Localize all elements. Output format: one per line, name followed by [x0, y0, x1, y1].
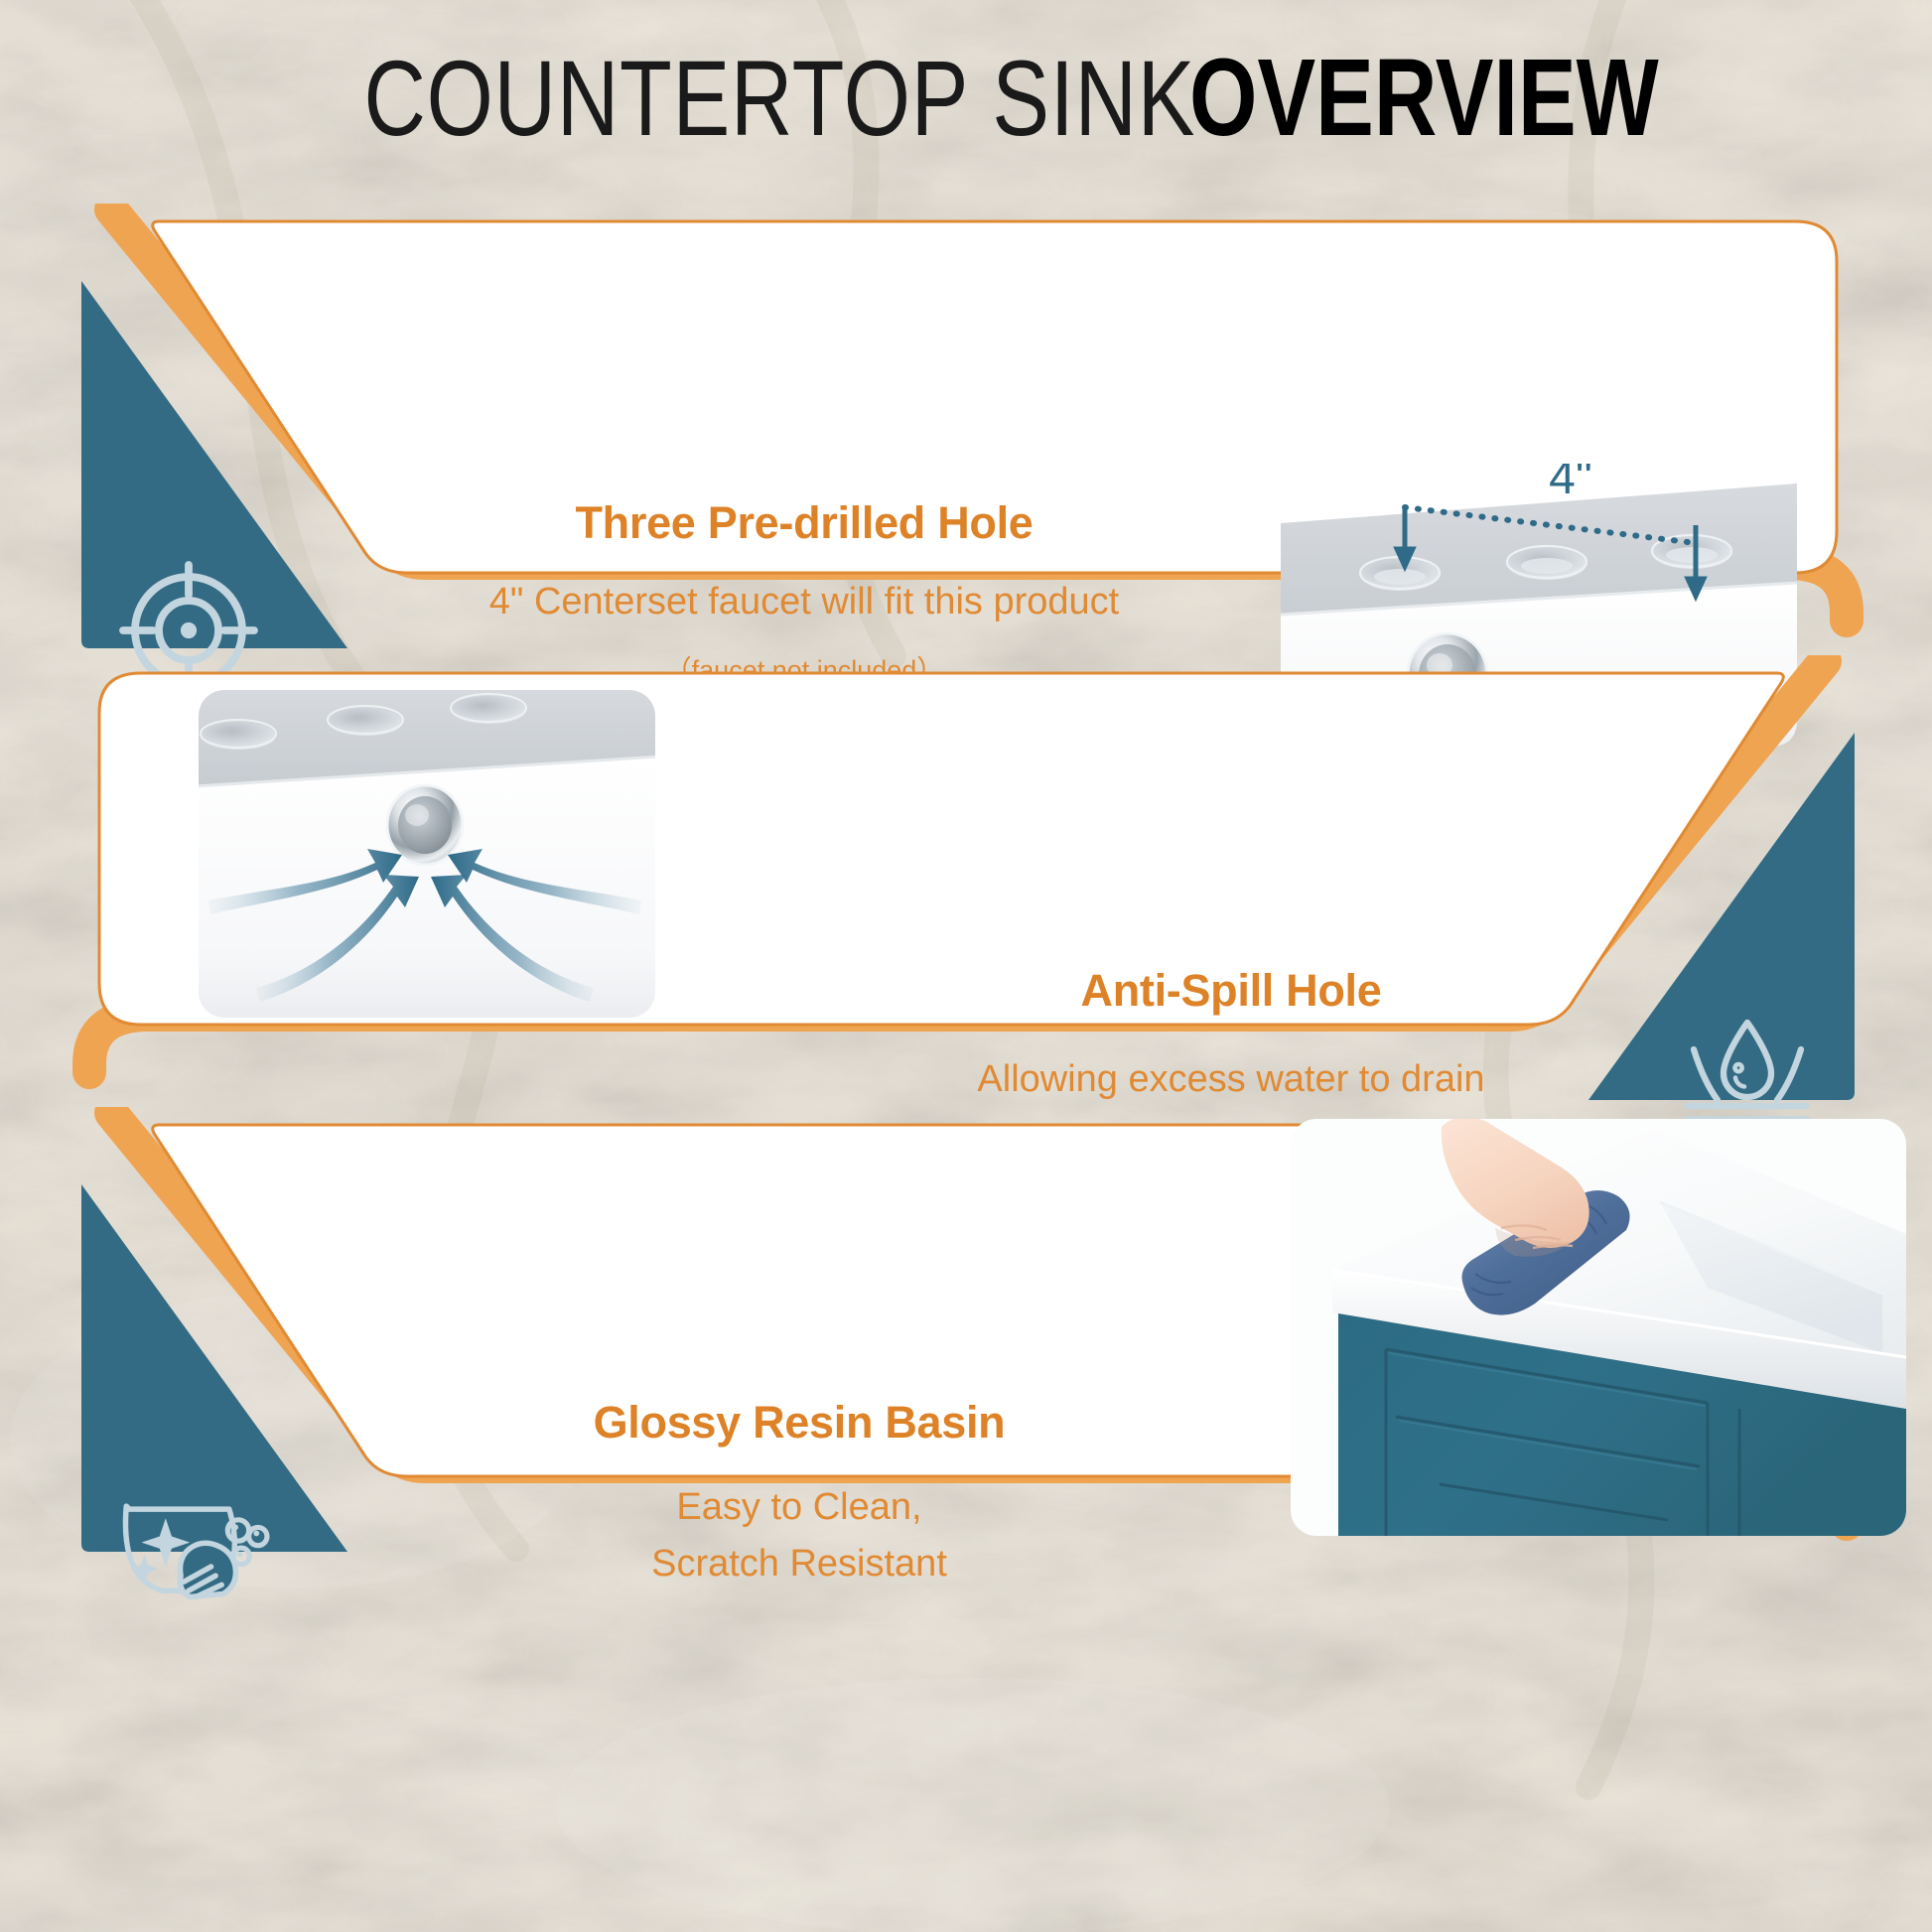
feature-subtitle: Allowing excess water to drain [735, 1054, 1727, 1105]
page-title-bold: OVERVIEW [1189, 35, 1659, 161]
page-title: COUNTERTOP SINK OVERVIEW [0, 28, 1932, 167]
page-title-light: COUNTERTOP SINK [363, 36, 1195, 160]
feature-subtitle-line2: Scratch Resistant [387, 1539, 1211, 1589]
feature-subtitle-line1: Easy to Clean, [387, 1482, 1211, 1533]
feature-card-anti-spill-hole: Anti-Spill Hole Allowing excess water to… [60, 655, 1876, 1102]
feature-subtitle: 4" Centerset faucet will fit this produc… [377, 577, 1231, 627]
sparkle-hand-clean-icon [111, 1456, 270, 1610]
feature-title: Three Pre-drilled Hole [377, 497, 1231, 549]
photo-wiping-countertop [1291, 1119, 1906, 1536]
photo-anti-spill-hole [199, 690, 655, 1018]
feature-title: Anti-Spill Hole [735, 965, 1727, 1017]
feature-card-glossy-resin-basin: Glossy Resin Basin Easy to Clean, Scratc… [60, 1107, 1876, 1554]
feature-card-pre-drilled-hole: Three Pre-drilled Hole 4" Centerset fauc… [60, 204, 1876, 650]
dimension-label: 4" [1549, 464, 1592, 504]
feature-title: Glossy Resin Basin [387, 1397, 1211, 1449]
